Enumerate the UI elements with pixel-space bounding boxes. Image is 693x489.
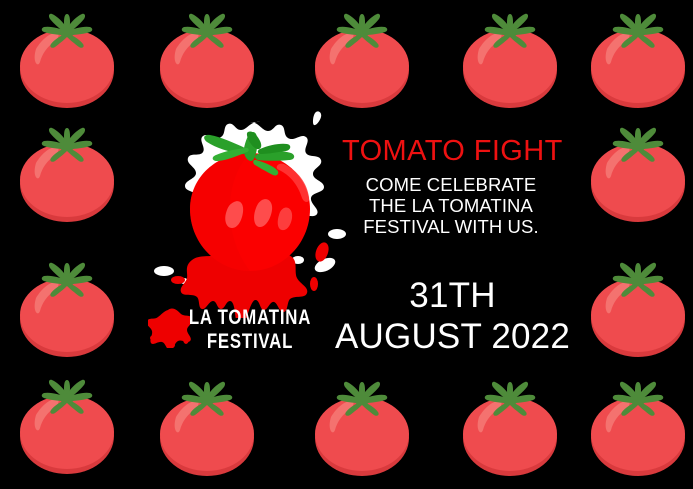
- tomato-right-2: [583, 253, 693, 363]
- tomato-top-2: [152, 4, 262, 114]
- poster-canvas: LA TOMATINA FESTIVAL TOMATO FIGHT COME C…: [0, 0, 693, 489]
- tomato-bottom-5: [583, 372, 693, 482]
- logo-wordmark-line-2: FESTIVAL: [170, 330, 330, 354]
- tomato-bottom-4: [455, 372, 565, 482]
- logo-wordmark-line-1: LA TOMATINA: [170, 306, 330, 330]
- logo-tomato-body: [190, 153, 310, 271]
- event-day: 31TH: [330, 275, 575, 316]
- tomato-top-5: [583, 4, 693, 114]
- subcopy-line-1: COME CELEBRATE: [340, 174, 562, 195]
- tomato-top-4: [455, 4, 565, 114]
- event-month-year: AUGUST 2022: [330, 316, 575, 357]
- tomato-left-2: [12, 253, 122, 363]
- tomato-top-1: [12, 4, 122, 114]
- page-title: TOMATO FIGHT: [342, 135, 560, 168]
- subcopy-line-3: FESTIVAL WITH US.: [340, 216, 562, 237]
- tomato-bottom-2: [152, 372, 262, 482]
- tomato-right-1: [583, 118, 693, 228]
- subcopy-block: COME CELEBRATE THE LA TOMATINA FESTIVAL …: [340, 174, 562, 237]
- subcopy-line-2: THE LA TOMATINA: [340, 195, 562, 216]
- logo-wordmark: LA TOMATINA FESTIVAL: [150, 306, 350, 368]
- tomato-left-1: [12, 118, 122, 228]
- tomato-left-3: [12, 370, 122, 480]
- tomato-top-3: [307, 4, 417, 114]
- tomato-bottom-3: [307, 372, 417, 482]
- event-date: 31TH AUGUST 2022: [330, 275, 575, 357]
- tomato-splash-icon: [148, 108, 352, 318]
